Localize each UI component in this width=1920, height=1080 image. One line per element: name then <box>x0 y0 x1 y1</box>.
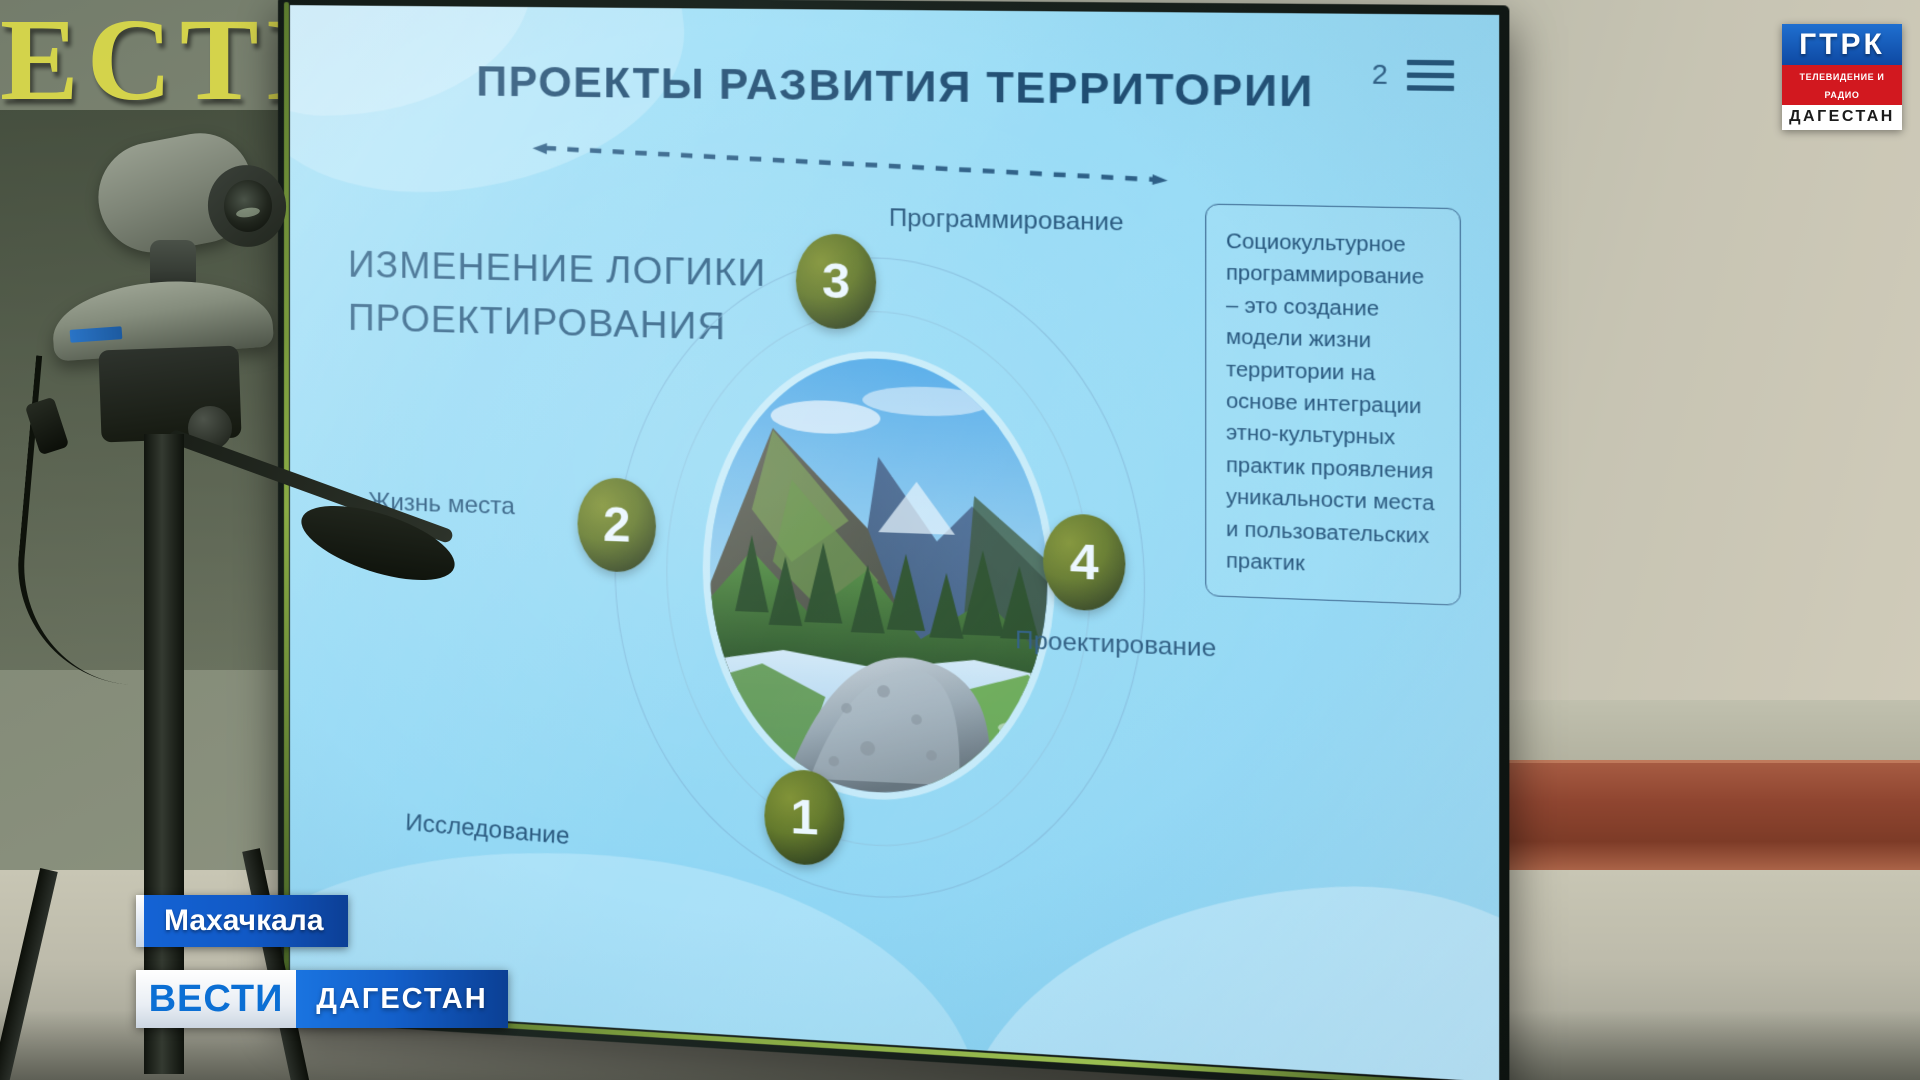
gtrk-logo-region-block: ДАГЕСТАН <box>1782 105 1902 130</box>
dashed-double-arrow-icon <box>530 141 1170 185</box>
hamburger-line <box>1407 72 1454 78</box>
gtrk-logo-name: ГТРК <box>1799 28 1885 61</box>
gtrk-logo: ГТРК ТЕЛЕВИДЕНИЕ И РАДИО ДАГЕСТАН <box>1782 24 1902 130</box>
hamburger-line <box>1407 85 1454 91</box>
slide-page-number: 2 <box>1372 58 1388 91</box>
location-label: Махачкала <box>164 904 324 938</box>
wall-gold-lettering: ЕСТИ <box>0 0 290 112</box>
channel-region-label: ДАГЕСТАН <box>316 983 487 1016</box>
gtrk-logo-name-block: ГТРК <box>1782 24 1902 65</box>
hamburger-menu-icon[interactable] <box>1407 60 1454 91</box>
channel-main-block: ВЕСТИ <box>136 970 296 1028</box>
slide-screen: ПРОЕКТЫ РАЗВИТИЯ ТЕРРИТОРИИ 2 ИЗМЕНЕНИЕ … <box>290 5 1499 1080</box>
diagram-node-3[interactable]: 3 <box>796 233 876 330</box>
slide-meta: 2 <box>1372 58 1454 92</box>
channel-main-label: ВЕСТИ <box>149 978 284 1021</box>
wall-panel-light <box>1460 700 1920 762</box>
channel-bug: ВЕСТИ ДАГЕСТАН <box>136 970 508 1028</box>
gtrk-logo-region: ДАГЕСТАН <box>1789 108 1895 125</box>
diagram-label-3: Программирование <box>889 204 1124 238</box>
camera-lens <box>224 180 272 232</box>
gtrk-logo-tagline: ТЕЛЕВИДЕНИЕ И РАДИО <box>1800 72 1885 100</box>
gtrk-logo-tagline-block: ТЕЛЕВИДЕНИЕ И РАДИО <box>1782 65 1902 105</box>
hamburger-line <box>1407 60 1454 66</box>
cycle-diagram: 1 2 3 4 Исследование Жизнь места Програм… <box>594 211 1211 958</box>
diagram-label-1: Исследование <box>405 809 570 851</box>
television-display: ПРОЕКТЫ РАЗВИТИЯ ТЕРРИТОРИИ 2 ИЗМЕНЕНИЕ … <box>278 0 1509 1080</box>
wood-trim <box>1460 760 1920 875</box>
info-card: Социокультурное программирование – это с… <box>1205 204 1461 607</box>
channel-region-block: ДАГЕСТАН <box>296 970 508 1028</box>
location-badge: Махачкала <box>136 895 348 947</box>
